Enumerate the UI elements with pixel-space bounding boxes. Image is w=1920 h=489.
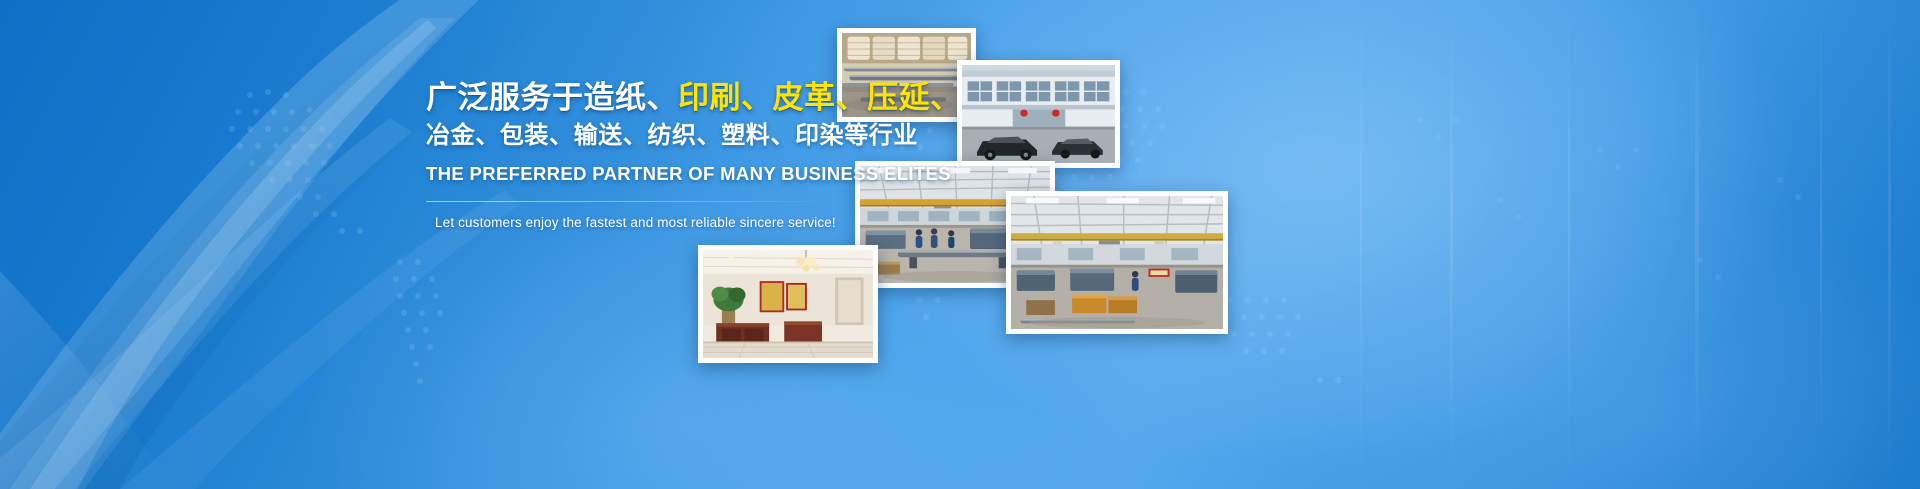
hero-copy: 广泛服务于造纸、印刷、皮革、压延、 冶金、包装、输送、纺织、塑料、印染等行业 T… <box>426 78 856 230</box>
photo-collage <box>0 0 1920 489</box>
photo-warehouse-production-hall[interactable] <box>1006 191 1228 334</box>
hero-headline-line2: 冶金、包装、输送、纺织、塑料、印染等行业 <box>426 119 856 153</box>
divider-rule <box>426 201 830 202</box>
hero-tagline: Let customers enjoy the fastest and most… <box>435 215 856 230</box>
light-streaks-decoration <box>1300 0 1920 489</box>
hero-subtitle-english: THE PREFERRED PARTNER OF MANY BUSINESS E… <box>426 163 856 185</box>
ribbon-swoosh-decoration <box>0 0 760 489</box>
photo-factory-entrance-cars[interactable] <box>957 60 1120 168</box>
headline-segment-highlight: 印刷、皮革、压延、 <box>678 80 962 115</box>
headline-segment-plain: 广泛服务于造纸、 <box>426 80 678 115</box>
photo-office-lobby-reception[interactable] <box>698 245 878 363</box>
light-bloom-right <box>1280 190 1920 489</box>
hero-headline: 广泛服务于造纸、印刷、皮革、压延、 <box>426 78 856 117</box>
hero-banner: 广泛服务于造纸、印刷、皮革、压延、 冶金、包装、输送、纺织、塑料、印染等行业 T… <box>0 0 1920 489</box>
